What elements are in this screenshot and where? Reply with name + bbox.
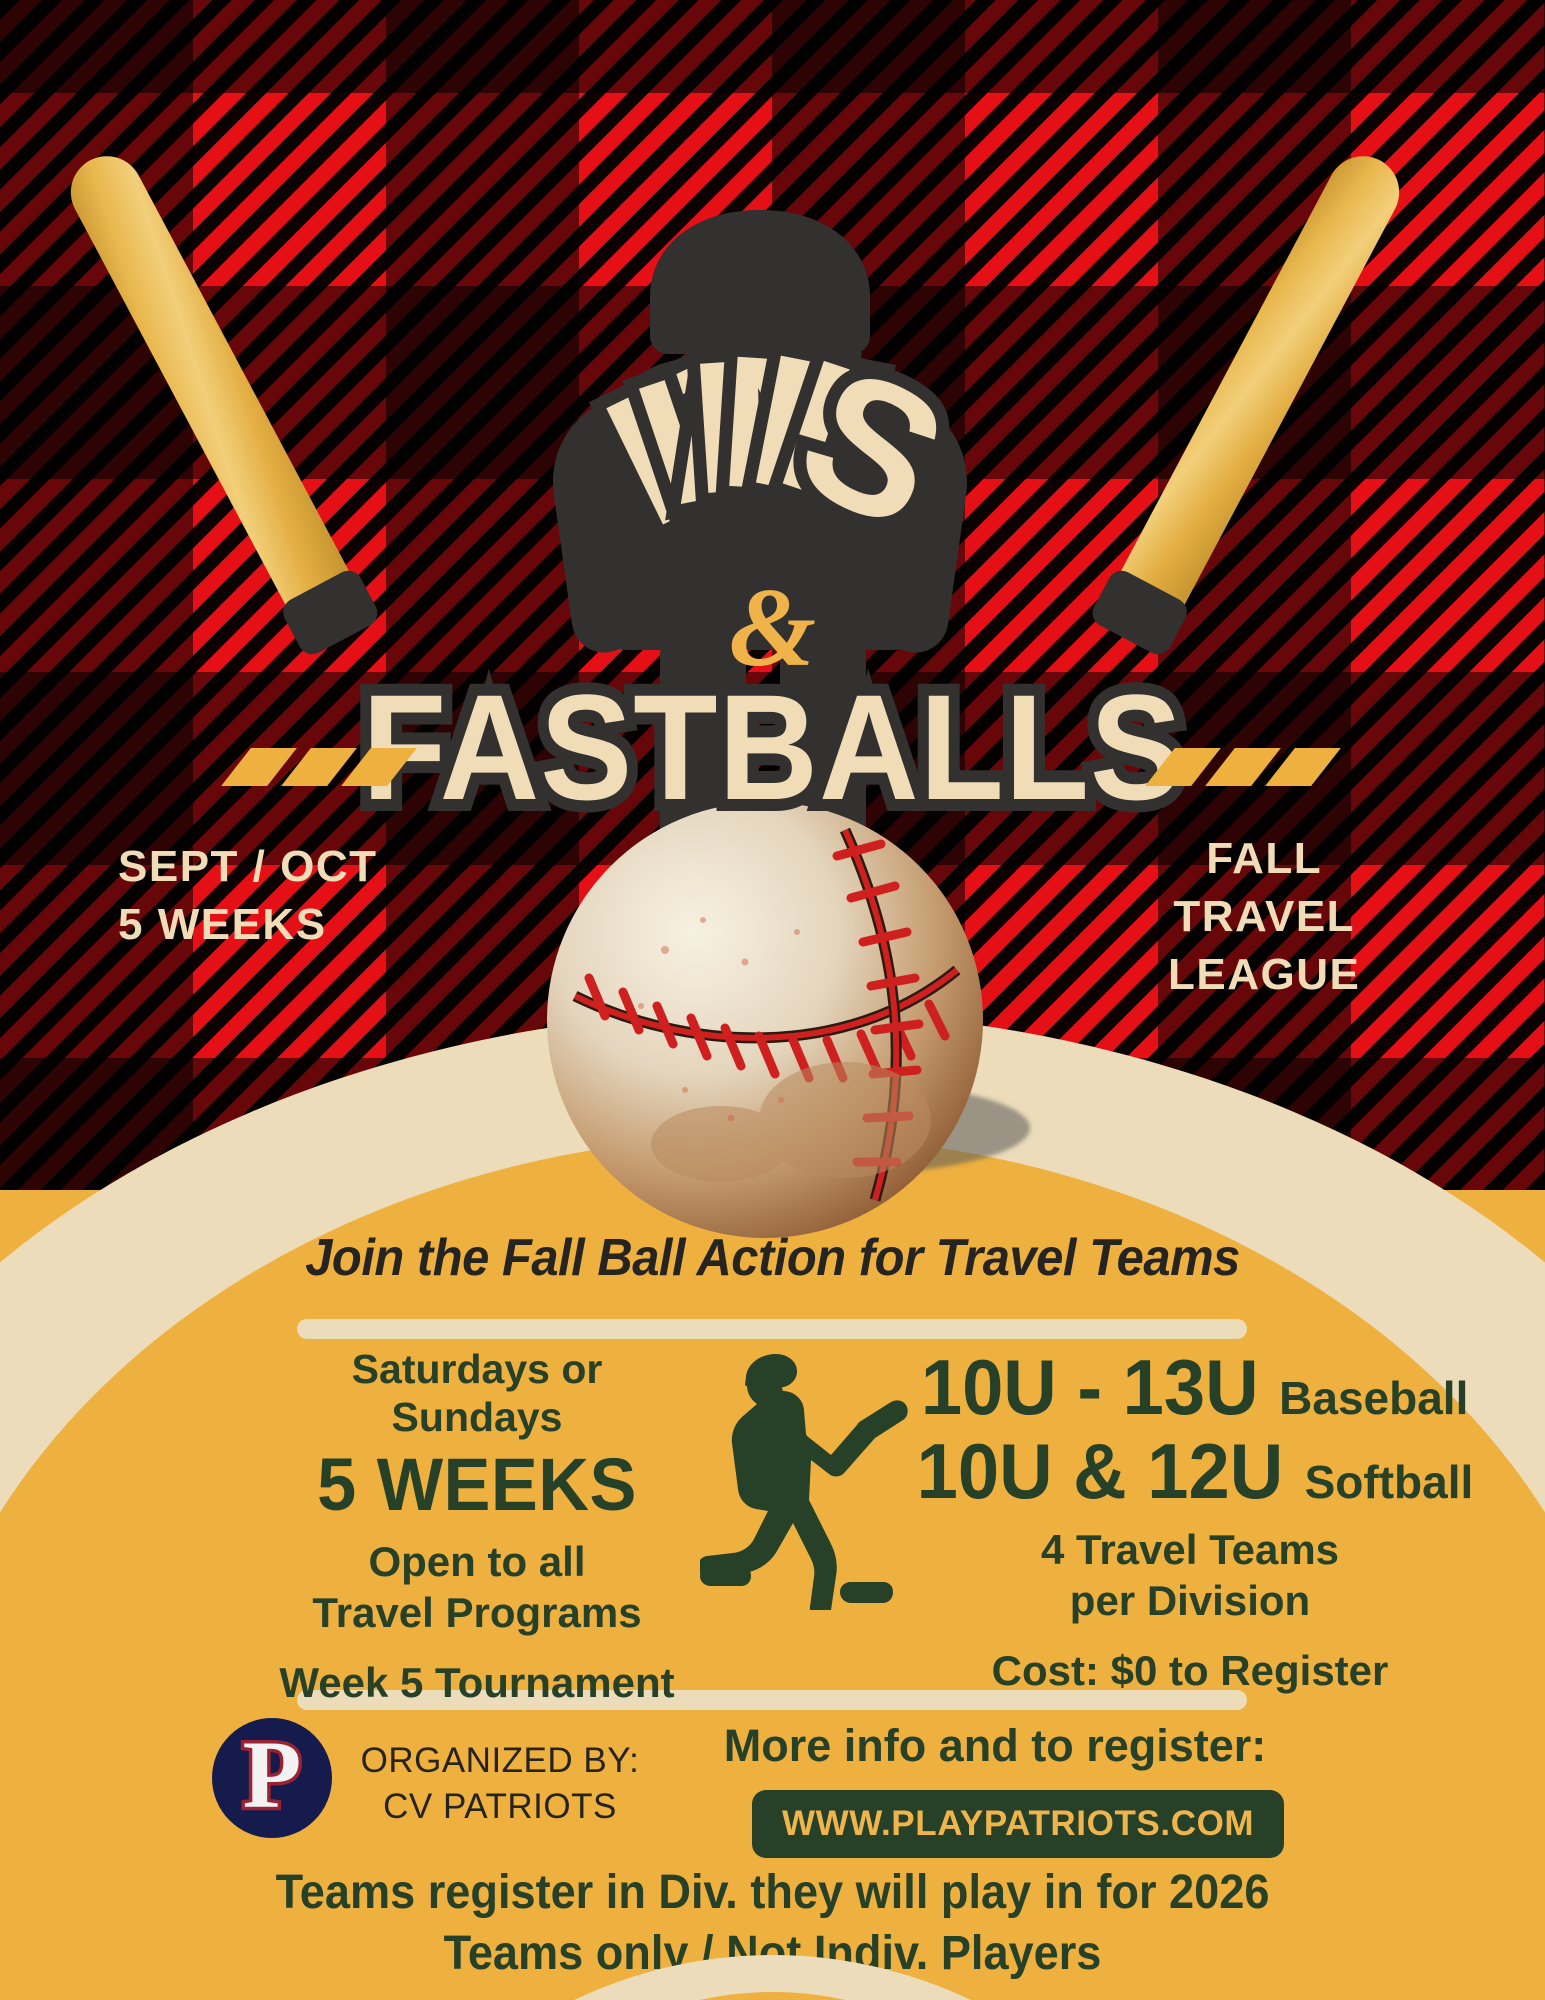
cost-note: Cost: $0 to Register	[900, 1646, 1480, 1696]
registration-note-1: Teams register in Div. they will play in…	[46, 1862, 1498, 1923]
open-to-line1: Open to all	[262, 1537, 692, 1587]
slash-decor-left-icon	[236, 748, 402, 786]
slash-decor-right-icon	[1160, 748, 1326, 786]
details-left-column: Saturdays or Sundays 5 WEEKS Open to all…	[262, 1345, 692, 1708]
league-label: FALL TRAVEL LEAGUE	[1168, 830, 1360, 1004]
title-fastballs: FASTBALLS	[62, 672, 1483, 822]
league-label-line1: FALL	[1168, 830, 1360, 888]
tagline: Join the Fall Ball Action for Travel Tea…	[46, 1228, 1498, 1288]
more-info-heading: More info and to register:	[690, 1720, 1300, 1772]
softball-ages: 10U & 12U	[916, 1429, 1283, 1513]
season-label-line1: SEPT / OCT	[118, 838, 377, 896]
organized-by: ORGANIZED BY: CV PATRIOTS	[350, 1738, 650, 1830]
register-url-button[interactable]: WWW.PLAYPATRIOTS.COM	[752, 1790, 1284, 1858]
divider-top	[297, 1319, 1247, 1339]
poster-root: FLANNELS & FASTBALLS SEPT / OCT 5 WEEKS …	[0, 0, 1545, 2000]
baseball-sport-label: Baseball	[1279, 1374, 1468, 1424]
open-to-line2: Travel Programs	[262, 1588, 692, 1638]
league-label-line3: LEAGUE	[1168, 946, 1360, 1004]
baseball-icon	[545, 800, 985, 1240]
teams-per-division-line2: per Division	[900, 1576, 1480, 1626]
logo-letter-p: P	[243, 1727, 302, 1823]
organizer-name: CV PATRIOTS	[350, 1784, 650, 1830]
baseball-division-row: 10U - 13U Baseball	[900, 1345, 1480, 1429]
cv-patriots-logo: P	[212, 1718, 332, 1838]
poster-title-block: FLANNELS	[0, 330, 1545, 580]
season-label: SEPT / OCT 5 WEEKS	[118, 838, 377, 954]
title-flannels: FLANNELS	[0, 330, 1545, 580]
league-label-line2: TRAVEL	[1168, 888, 1360, 946]
baseball-ages: 10U - 13U	[921, 1345, 1259, 1429]
details-right-column: 10U - 13U Baseball 10U & 12U Softball 4 …	[900, 1345, 1480, 1697]
duration-weeks: 5 WEEKS	[273, 1444, 682, 1525]
batter-silhouette-icon	[700, 1340, 915, 1610]
season-label-line2: 5 WEEKS	[118, 896, 377, 954]
tournament-note: Week 5 Tournament	[262, 1658, 692, 1708]
teams-per-division-line1: 4 Travel Teams	[900, 1525, 1480, 1575]
softball-division-row: 10U & 12U Softball	[900, 1429, 1480, 1513]
organized-by-label: ORGANIZED BY:	[350, 1738, 650, 1784]
schedule-days: Saturdays or Sundays	[262, 1345, 692, 1442]
softball-sport-label: Softball	[1305, 1458, 1474, 1508]
